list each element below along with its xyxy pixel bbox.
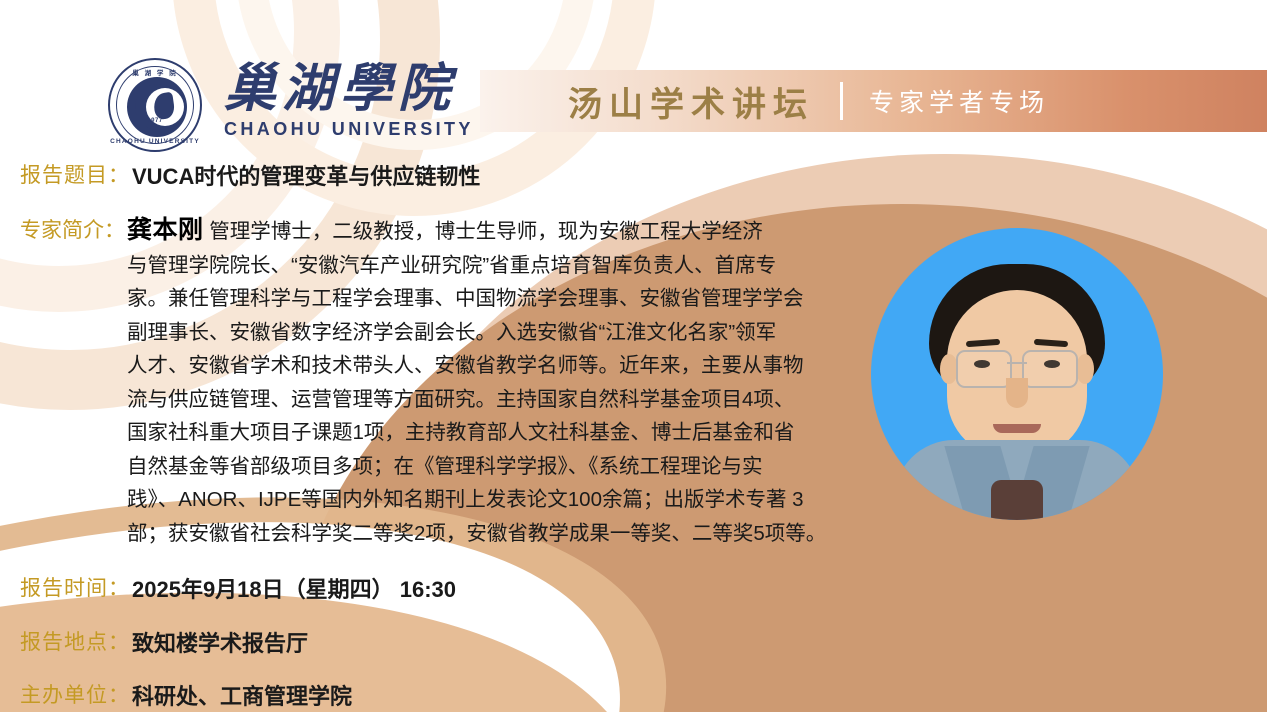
lecture-organizer-label: 主办单位： — [20, 679, 130, 709]
bio-line: 人才、安徽省学术和技术带头人、安徽省教学名师等。近年来，主要从事物 — [127, 349, 839, 383]
bio-line: 部；获安徽省社会科学奖二等奖2项，安徽省教学成果一等奖、二等奖5项等。 — [127, 517, 839, 551]
speaker-bio-row: 专家简介： 龚本刚 管理学博士，二级教授，博士生导师，现为安徽工程大学经济 与管… — [20, 214, 839, 550]
speaker-name: 龚本刚 — [127, 216, 204, 244]
poster-header: 巢 湖 学 院 1977 CHAOHU UNIVERSITY 巢湖學院 CHAO… — [0, 0, 1267, 155]
university-wordmark: 巢湖學院 CHAOHU UNIVERSITY — [224, 58, 474, 140]
lecture-organizer-value: 科研处、工商管理学院 — [132, 679, 352, 711]
portrait-mouth — [993, 424, 1041, 433]
bio-line: 副理事长、安徽省数字经济学会副会长。入选安徽省“江淮文化名家”领军 — [127, 316, 839, 350]
lecture-place-label: 报告地点： — [20, 626, 130, 656]
speaker-bio-body: 龚本刚 管理学博士，二级教授，博士生导师，现为安徽工程大学经济 与管理学院院长、… — [127, 214, 839, 550]
banner-sub-title: 专家学者专场 — [869, 83, 1049, 119]
speaker-bio-label: 专家简介： — [20, 214, 125, 244]
portrait-glasses-bridge — [1007, 362, 1027, 364]
speaker-portrait — [871, 228, 1163, 520]
bio-line-text: 管理学博士，二级教授，博士生导师，现为安徽工程大学经济 — [209, 220, 763, 243]
bio-line: 龚本刚 管理学博士，二级教授，博士生导师，现为安徽工程大学经济 — [127, 214, 839, 249]
lecture-organizer-row: 主办单位： 科研处、工商管理学院 — [20, 679, 352, 711]
portrait-glasses-right — [1022, 350, 1078, 388]
university-name-en: CHAOHU UNIVERSITY — [224, 119, 474, 140]
lecture-series-banner: 汤山学术讲坛 专家学者专场 — [480, 70, 1267, 132]
banner-main-title: 汤山学术讲坛 — [568, 77, 814, 126]
banner-divider — [840, 82, 843, 120]
lecture-title-row: 报告题目： VUCA时代的管理变革与供应链韧性 — [20, 159, 480, 191]
lecture-place-row: 报告地点： 致知楼学术报告厅 — [20, 626, 308, 658]
poster-root: 巢 湖 学 院 1977 CHAOHU UNIVERSITY 巢湖學院 CHAO… — [0, 0, 1267, 712]
lecture-time-value: 2025年9月18日（星期四） 16:30 — [132, 572, 456, 604]
bio-line: 家。兼任管理科学与工程学会理事、中国物流学会理事、安徽省管理学学会 — [127, 282, 839, 316]
lecture-title-value: VUCA时代的管理变革与供应链韧性 — [132, 159, 480, 191]
portrait-glasses-left — [956, 350, 1012, 388]
lecture-title-label: 报告题目： — [20, 159, 130, 189]
portrait-inner-shirt — [991, 480, 1043, 520]
bio-line: 自然基金等省部级项目多项；在《管理科学学报》、《系统工程理论与实 — [127, 450, 839, 484]
university-logo: 巢 湖 学 院 1977 CHAOHU UNIVERSITY 巢湖學院 CHAO… — [108, 58, 474, 152]
emblem-arc-top-text: 巢 湖 学 院 — [110, 67, 200, 77]
portrait-ear-right — [1076, 354, 1094, 384]
bio-line: 践》、ANOR、IJPE等国内外知名期刊上发表论文100余篇；出版学术专著 3 — [127, 483, 839, 517]
bio-line: 与管理学院院长、“安徽汽车产业研究院”省重点培育智库负责人、首席专 — [127, 249, 839, 283]
bio-line: 国家社科重大项目子课题1项，主持教育部人文社科基金、博士后基金和省 — [127, 416, 839, 450]
university-emblem-icon: 巢 湖 学 院 1977 CHAOHU UNIVERSITY — [108, 58, 202, 152]
lecture-time-label: 报告时间： — [20, 572, 130, 602]
university-name-cn: 巢湖學院 — [224, 62, 474, 117]
bio-line: 流与供应链管理、运营管理等方面研究。主持国家自然科学基金项目4项、 — [127, 383, 839, 417]
portrait-nose — [1006, 378, 1028, 408]
emblem-arc-bottom-text: CHAOHU UNIVERSITY — [110, 138, 200, 145]
lecture-time-row: 报告时间： 2025年9月18日（星期四） 16:30 — [20, 572, 456, 604]
lecture-place-value: 致知楼学术报告厅 — [132, 626, 308, 658]
emblem-founding-year: 1977 — [110, 118, 200, 124]
